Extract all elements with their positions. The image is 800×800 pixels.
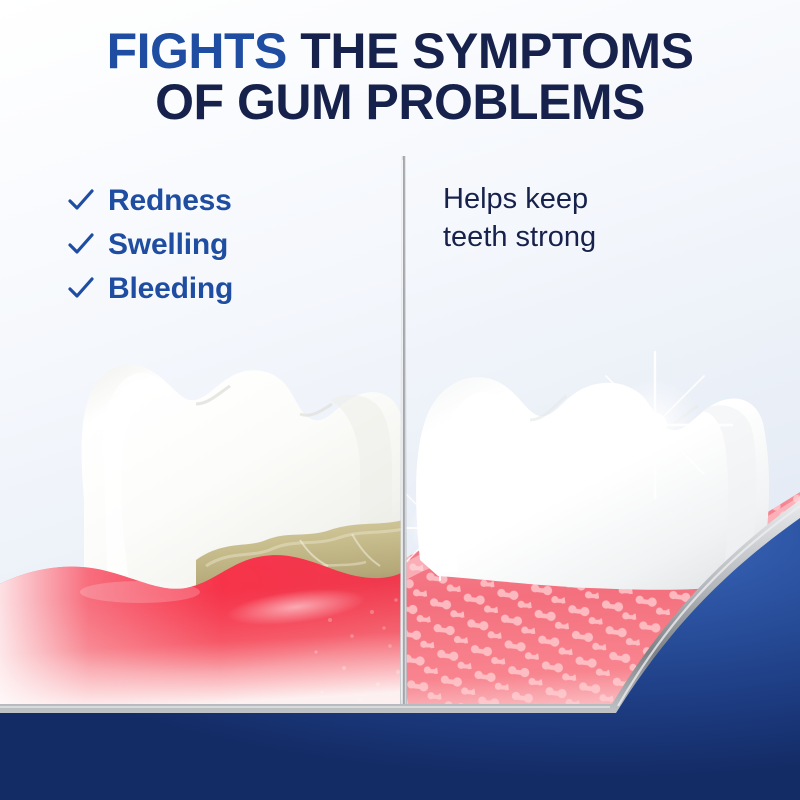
headline: FIGHTS THE SYMPTOMS OF GUM PROBLEMS bbox=[0, 26, 800, 128]
symptom-list: Redness Swelling Bleeding bbox=[68, 180, 233, 312]
list-item: Swelling bbox=[68, 224, 233, 265]
list-item-label: Redness bbox=[108, 184, 232, 218]
headline-accent-word: FIGHTS bbox=[107, 23, 287, 79]
benefit-caption: Helps keep teeth strong bbox=[443, 180, 596, 257]
list-item-label: Bleeding bbox=[108, 272, 233, 306]
product-graphic-stage: FIGHTS THE SYMPTOMS OF GUM PROBLEMS Redn… bbox=[0, 0, 800, 800]
list-item-label: Swelling bbox=[108, 228, 228, 262]
list-item: Bleeding bbox=[68, 268, 233, 309]
check-icon bbox=[68, 232, 94, 258]
benefit-caption-line-1: Helps keep bbox=[443, 180, 596, 218]
benefit-caption-line-2: teeth strong bbox=[443, 218, 596, 256]
headline-line-2: OF GUM PROBLEMS bbox=[0, 77, 800, 128]
list-item: Redness bbox=[68, 180, 233, 221]
headline-line-1: FIGHTS THE SYMPTOMS bbox=[0, 26, 800, 77]
headline-line-1-rest: THE SYMPTOMS bbox=[287, 23, 694, 79]
check-icon bbox=[68, 276, 94, 302]
check-icon bbox=[68, 188, 94, 214]
